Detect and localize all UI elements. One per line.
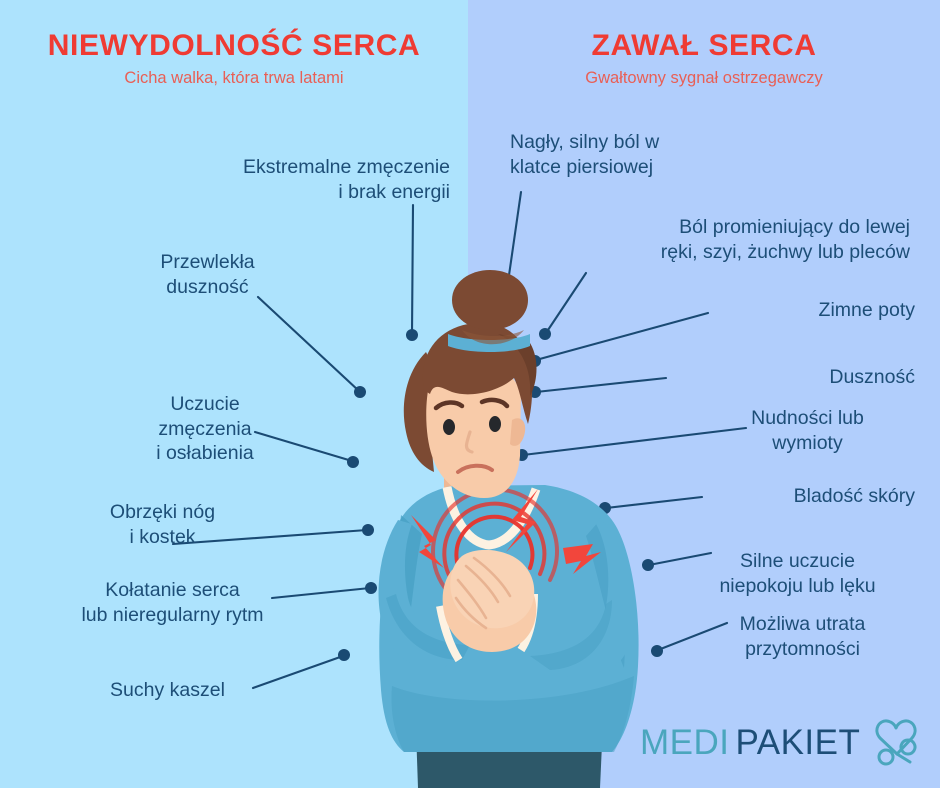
symptom-label-right-0: Nagły, silny ból w klatce piersiowej: [510, 130, 810, 179]
panel-right-header: ZAWAŁ SERCA Gwałtowny sygnał ostrzegawcz…: [468, 30, 940, 87]
panel-left-header: NIEWYDOLNOŚĆ SERCA Cicha walka, która tr…: [0, 30, 468, 87]
panel-right-title: ZAWAŁ SERCA: [468, 30, 940, 62]
panel-right-background: [468, 0, 940, 788]
symptom-label-left-2: Uczucie zmęczenia i osłabienia: [100, 392, 310, 466]
medipakiet-logo[interactable]: MEDI PAKIET: [640, 716, 924, 770]
panel-right-subtitle: Gwałtowny sygnał ostrzegawczy: [468, 69, 940, 88]
symptom-label-left-1: Przewlekła duszność: [110, 250, 305, 299]
infographic-canvas: NIEWYDOLNOŚĆ SERCA Cicha walka, która tr…: [0, 0, 940, 788]
symptom-label-left-4: Kołatanie serca lub nieregularny rytm: [40, 578, 305, 627]
symptom-label-right-3: Duszność: [660, 365, 915, 390]
logo-text-pakiet: PAKIET: [736, 723, 861, 763]
panel-left-subtitle: Cicha walka, która trwa latami: [0, 69, 468, 88]
panel-left-title: NIEWYDOLNOŚĆ SERCA: [0, 30, 468, 62]
heart-stethoscope-icon: [870, 716, 924, 770]
logo-text-medi: MEDI: [640, 723, 730, 763]
symptom-label-left-5: Suchy kaszel: [60, 678, 275, 703]
symptom-label-right-2: Zimne poty: [660, 298, 915, 323]
symptom-label-left-0: Ekstremalne zmęczenie i brak energii: [110, 155, 450, 204]
symptom-label-right-5: Bladość skóry: [660, 484, 915, 509]
symptom-label-right-4: Nudności lub wymioty: [700, 406, 915, 455]
symptom-label-right-7: Możliwa utrata przytomności: [690, 612, 915, 661]
symptom-label-right-6: Silne uczucie niepokoju lub lęku: [680, 549, 915, 598]
symptom-label-right-1: Ból promieniujący do lewej ręki, szyi, ż…: [560, 215, 910, 264]
symptom-label-left-3: Obrzęki nóg i kostek: [55, 500, 270, 549]
